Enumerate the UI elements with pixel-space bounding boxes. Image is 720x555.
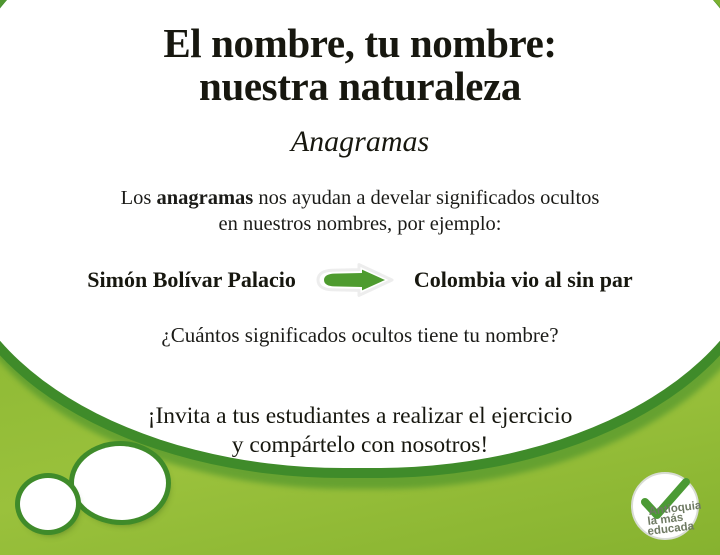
lead-paragraph: Los anagramas nos ayudan a develar signi… — [44, 185, 676, 237]
title-line-2: nuestra naturaleza — [56, 65, 664, 108]
lead-suffix: nos ayudan a develar significados oculto… — [253, 187, 599, 209]
subtitle: Anagramas — [0, 125, 720, 159]
lead-line-2: en nuestros nombres, por ejemplo: — [44, 211, 676, 237]
antioquia-la-mas-educada-logo: Antioquia la más educada — [629, 470, 701, 542]
invitation-text: ¡Invita a tus estudiantes a realizar el … — [0, 402, 720, 459]
poster-content: El nombre, tu nombre: nuestra naturaleza… — [0, 0, 720, 555]
anagram-result-name: Colombia vio al sin par — [414, 267, 633, 293]
title-line-1: El nombre, tu nombre: — [163, 20, 556, 66]
lead-prefix: Los — [121, 187, 157, 209]
anagram-example: Simón Bolívar Palacio Colombia vio al si… — [0, 263, 720, 297]
page-title: El nombre, tu nombre: nuestra naturaleza — [56, 22, 664, 109]
poster-canvas: El nombre, tu nombre: nuestra naturaleza… — [0, 0, 720, 555]
arrow-right-icon — [312, 263, 398, 297]
lead-bold-word: anagramas — [156, 187, 253, 209]
anagram-source-name: Simón Bolívar Palacio — [87, 267, 296, 293]
invitation-line-1: ¡Invita a tus estudiantes a realizar el … — [148, 403, 573, 429]
invitation-line-2: y compártelo con nosotros! — [0, 431, 720, 460]
reflection-question: ¿Cuántos significados ocultos tiene tu n… — [0, 323, 720, 348]
